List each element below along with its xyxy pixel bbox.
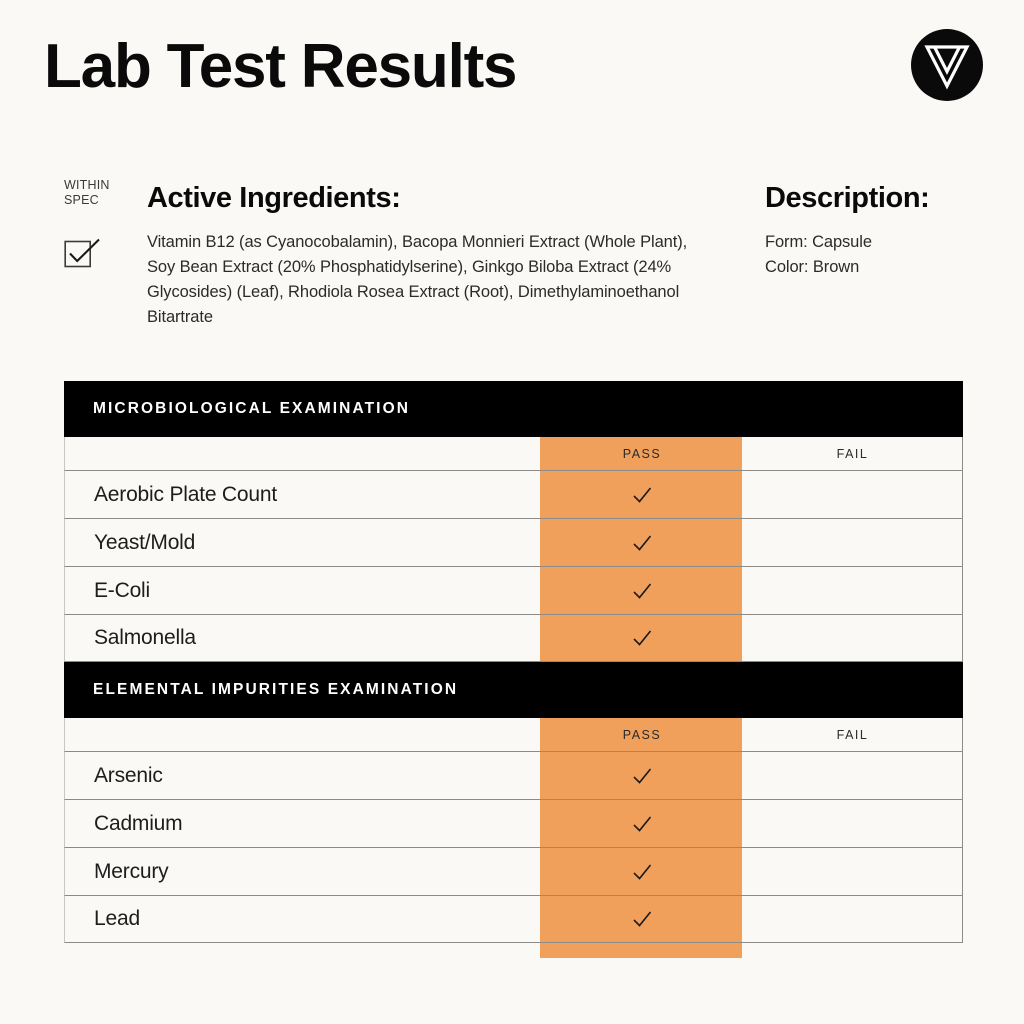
test-name: Aerobic Plate Count bbox=[65, 483, 541, 507]
column-header-fail: FAIL bbox=[743, 447, 962, 461]
table-row[interactable]: Yeast/Mold bbox=[64, 518, 963, 566]
column-header-fail: FAIL bbox=[743, 728, 962, 742]
pass-cell[interactable] bbox=[541, 483, 743, 507]
active-ingredients-block: Active Ingredients: Vitamin B12 (as Cyan… bbox=[147, 183, 707, 330]
check-icon bbox=[630, 907, 654, 931]
test-name: Mercury bbox=[65, 860, 541, 884]
column-header-pass: PASS bbox=[541, 447, 743, 461]
table-row[interactable]: Aerobic Plate Count bbox=[64, 470, 963, 518]
column-header-pass: PASS bbox=[541, 728, 743, 742]
test-name: Arsenic bbox=[65, 764, 541, 788]
description-values: Form: Capsule Color: Brown bbox=[765, 230, 995, 280]
description-block: Description: Form: Capsule Color: Brown bbox=[765, 183, 995, 280]
description-form-line: Form: Capsule bbox=[765, 230, 995, 255]
within-spec-block: WITHIN SPEC bbox=[64, 178, 140, 268]
check-icon bbox=[630, 764, 654, 788]
test-name: Lead bbox=[65, 907, 541, 931]
table-row[interactable]: Lead bbox=[64, 895, 963, 943]
check-icon bbox=[630, 860, 654, 884]
page-title: Lab Test Results bbox=[44, 36, 516, 98]
pass-cell[interactable] bbox=[541, 531, 743, 555]
section-band-title: ELEMENTAL IMPURITIES EXAMINATION bbox=[93, 681, 458, 699]
pass-cell[interactable] bbox=[541, 579, 743, 603]
test-name: Yeast/Mold bbox=[65, 531, 541, 555]
within-spec-label: WITHIN SPEC bbox=[64, 178, 140, 208]
test-name: Cadmium bbox=[65, 812, 541, 836]
table-row[interactable]: E-Coli bbox=[64, 566, 963, 614]
table-section-elemental-impurities: ELEMENTAL IMPURITIES EXAMINATION PASS FA… bbox=[64, 662, 963, 943]
check-icon bbox=[630, 483, 654, 507]
pass-cell[interactable] bbox=[541, 626, 743, 650]
test-name: E-Coli bbox=[65, 579, 541, 603]
pass-cell[interactable] bbox=[541, 764, 743, 788]
pass-cell[interactable] bbox=[541, 812, 743, 836]
check-icon bbox=[630, 531, 654, 555]
table-section-microbiological: MICROBIOLOGICAL EXAMINATION PASS FAIL Ae… bbox=[64, 381, 963, 662]
table-row[interactable]: Mercury bbox=[64, 847, 963, 895]
table-row[interactable]: Cadmium bbox=[64, 799, 963, 847]
description-heading: Description: bbox=[765, 183, 995, 213]
lab-results-table: MICROBIOLOGICAL EXAMINATION PASS FAIL Ae… bbox=[64, 381, 963, 943]
active-ingredients-text: Vitamin B12 (as Cyanocobalamin), Bacopa … bbox=[147, 230, 707, 330]
pass-cell[interactable] bbox=[541, 860, 743, 884]
section-band-elemental: ELEMENTAL IMPURITIES EXAMINATION bbox=[64, 662, 963, 718]
lab-test-results-page: Lab Test Results WITHIN SPEC Active Ingr… bbox=[0, 0, 1024, 1024]
check-icon bbox=[630, 579, 654, 603]
column-header-row-elemental: PASS FAIL bbox=[64, 718, 963, 751]
section-band-microbiological: MICROBIOLOGICAL EXAMINATION bbox=[64, 381, 963, 437]
pass-cell[interactable] bbox=[541, 907, 743, 931]
table-row[interactable]: Arsenic bbox=[64, 751, 963, 799]
column-header-row-microbiological: PASS FAIL bbox=[64, 437, 963, 470]
section-band-title: MICROBIOLOGICAL EXAMINATION bbox=[93, 400, 410, 418]
description-color-line: Color: Brown bbox=[765, 255, 995, 280]
table-row[interactable]: Salmonella bbox=[64, 614, 963, 662]
check-icon bbox=[630, 626, 654, 650]
triangle-v-logo bbox=[910, 28, 984, 102]
check-icon bbox=[630, 812, 654, 836]
active-ingredients-heading: Active Ingredients: bbox=[147, 183, 707, 213]
within-spec-checkbox[interactable] bbox=[64, 234, 104, 268]
test-name: Salmonella bbox=[65, 626, 541, 650]
